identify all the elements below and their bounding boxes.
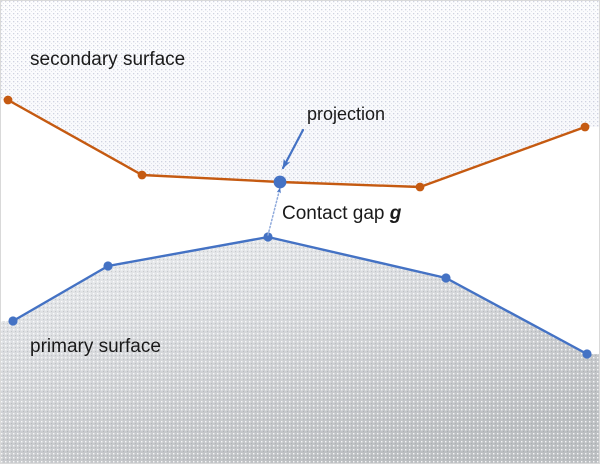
- primary-node-1[interactable]: [8, 316, 17, 325]
- secondary-surface-body: [1, 1, 600, 187]
- primary-surface-label: primary surface: [30, 337, 161, 356]
- primary-node-2[interactable]: [103, 261, 112, 270]
- secondary-node-2[interactable]: [138, 171, 147, 180]
- contact-gap-label: Contact gap g: [282, 204, 401, 223]
- contact-gap-arrow: [268, 188, 280, 235]
- contact-gap-symbol: g: [390, 203, 402, 224]
- primary-node-5[interactable]: [582, 349, 591, 358]
- diagram-canvas: secondary surface projection Contact gap…: [0, 0, 600, 464]
- contact-gap-label-text: Contact gap: [282, 203, 390, 224]
- secondary-node-5[interactable]: [581, 123, 590, 132]
- secondary-node-1[interactable]: [4, 96, 13, 105]
- primary-node-4[interactable]: [441, 273, 450, 282]
- secondary-node-4[interactable]: [416, 183, 425, 192]
- contact-mechanics-diagram: [1, 1, 600, 464]
- projection-label: projection: [307, 105, 385, 123]
- secondary-body-texture: [1, 1, 600, 187]
- secondary-surface-label: secondary surface: [30, 50, 185, 69]
- projection-point[interactable]: [274, 176, 287, 189]
